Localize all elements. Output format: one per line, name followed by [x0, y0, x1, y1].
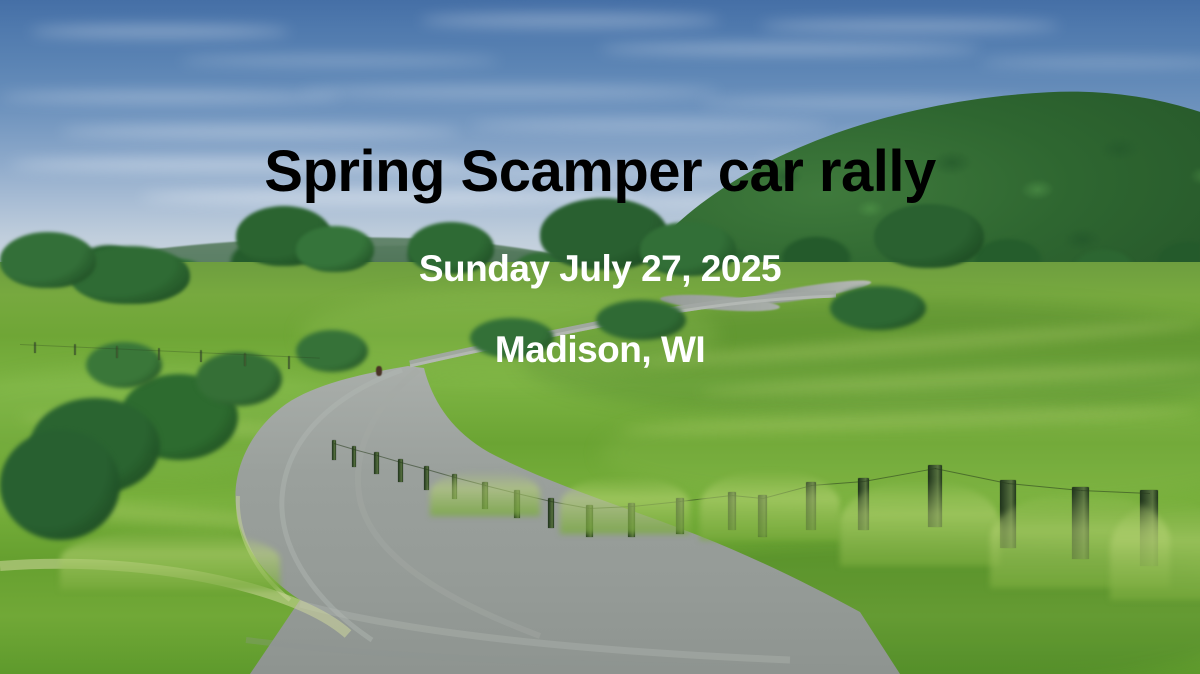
page-title: Spring Scamper car rally [0, 140, 1200, 204]
fence-post [1140, 490, 1158, 566]
bush [830, 286, 926, 330]
event-date: Sunday July 27, 2025 [0, 248, 1200, 290]
poster-canvas: Spring Scamper car rally Sunday July 27,… [0, 0, 1200, 674]
fence-post [928, 465, 942, 527]
event-location: Madison, WI [0, 329, 1200, 371]
fence-post [586, 505, 593, 537]
bush [0, 430, 120, 540]
fence-post [676, 498, 684, 534]
fence-post [806, 482, 816, 530]
fence-post [1072, 487, 1089, 559]
fence-post [858, 478, 869, 530]
fence-post [728, 492, 736, 530]
fence-post [758, 495, 767, 537]
fence-post [1000, 480, 1016, 548]
fence-post [628, 503, 635, 537]
